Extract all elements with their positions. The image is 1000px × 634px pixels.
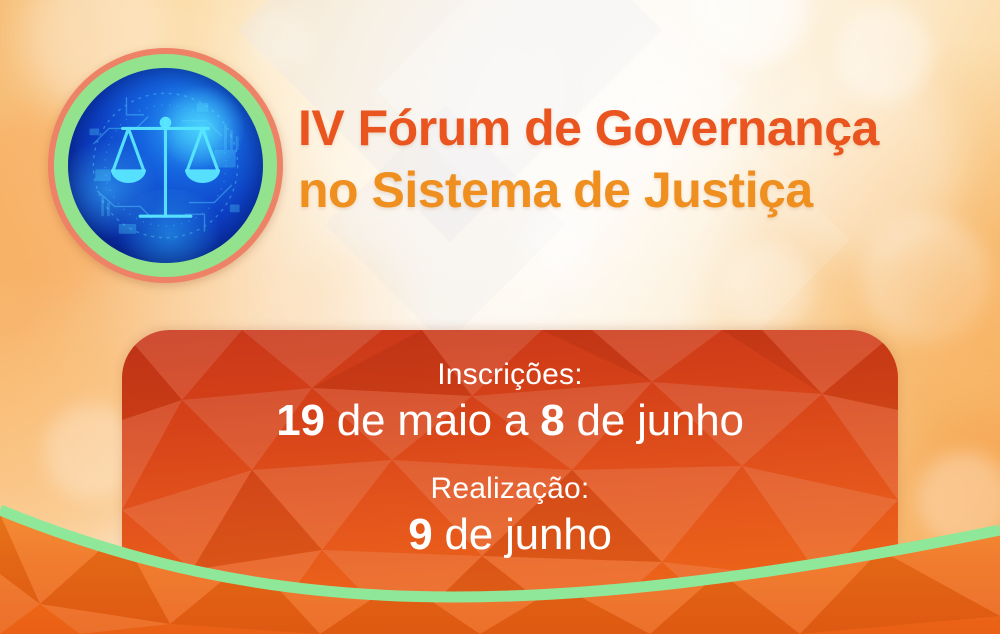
- registration-end-day: 8: [540, 396, 564, 445]
- banner-title: IV Fórum de Governança no Sistema de Jus…: [298, 97, 958, 221]
- event-banner: IV Fórum de Governança no Sistema de Jus…: [0, 0, 1000, 634]
- event-logo: [48, 48, 283, 283]
- registration-dates: 19 de maio a 8 de junho: [122, 394, 898, 448]
- band-polygon-texture: [0, 514, 1000, 634]
- registration-middle-text: de maio a: [325, 396, 540, 445]
- title-line-2: no Sistema de Justiça: [298, 159, 958, 221]
- registration-suffix-text: de junho: [565, 396, 744, 445]
- bottom-band: [0, 484, 1000, 634]
- bokeh-circle: [726, 244, 812, 330]
- registration-block: Inscrições: 19 de maio a 8 de junho: [122, 356, 898, 448]
- registration-label: Inscrições:: [122, 356, 898, 394]
- title-line-1: IV Fórum de Governança: [298, 97, 958, 159]
- logo-disc: [68, 68, 263, 263]
- scales-of-justice-icon: [68, 68, 263, 263]
- registration-start-day: 19: [276, 396, 325, 445]
- bottom-wave-svg: [0, 484, 1000, 634]
